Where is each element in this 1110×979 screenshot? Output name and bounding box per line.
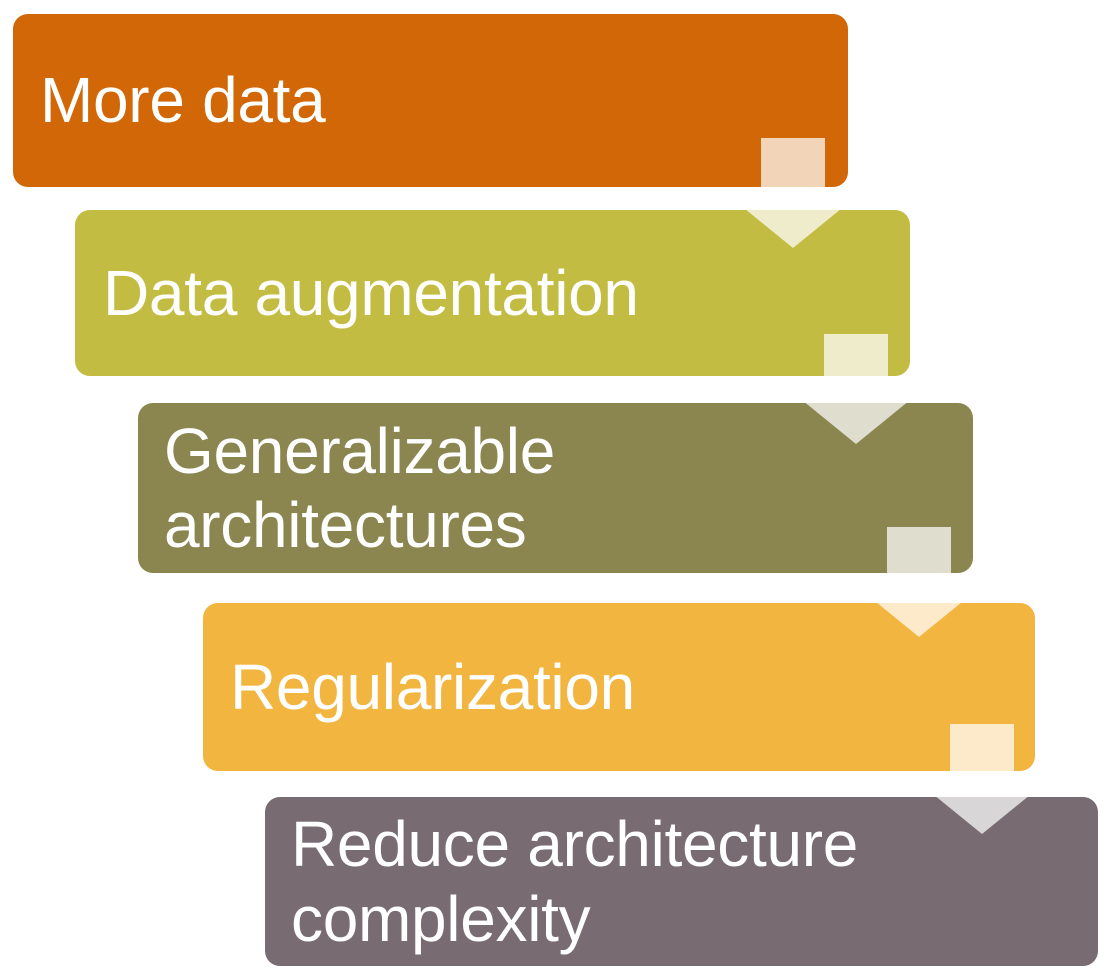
flow-step-label: Regularization — [203, 650, 647, 724]
flow-step-regularization[interactable]: Regularization — [203, 603, 1035, 771]
flow-step-label: Reduce architecture complexity — [265, 807, 870, 955]
flow-step-label: More data — [13, 63, 337, 137]
flow-step-data-augmentation[interactable]: Data augmentation — [75, 210, 910, 376]
flow-step-more-data[interactable]: More data — [13, 14, 848, 187]
flow-step-label: Data augmentation — [75, 256, 651, 330]
flow-step-reduce-architecture-complexity[interactable]: Reduce architecture complexity — [265, 797, 1098, 966]
diagram-canvas: More data Data augmentation Generalizabl… — [0, 0, 1110, 979]
flow-step-generalizable-architectures[interactable]: Generalizable architectures — [138, 403, 973, 573]
flow-step-label: Generalizable architectures — [138, 414, 567, 562]
